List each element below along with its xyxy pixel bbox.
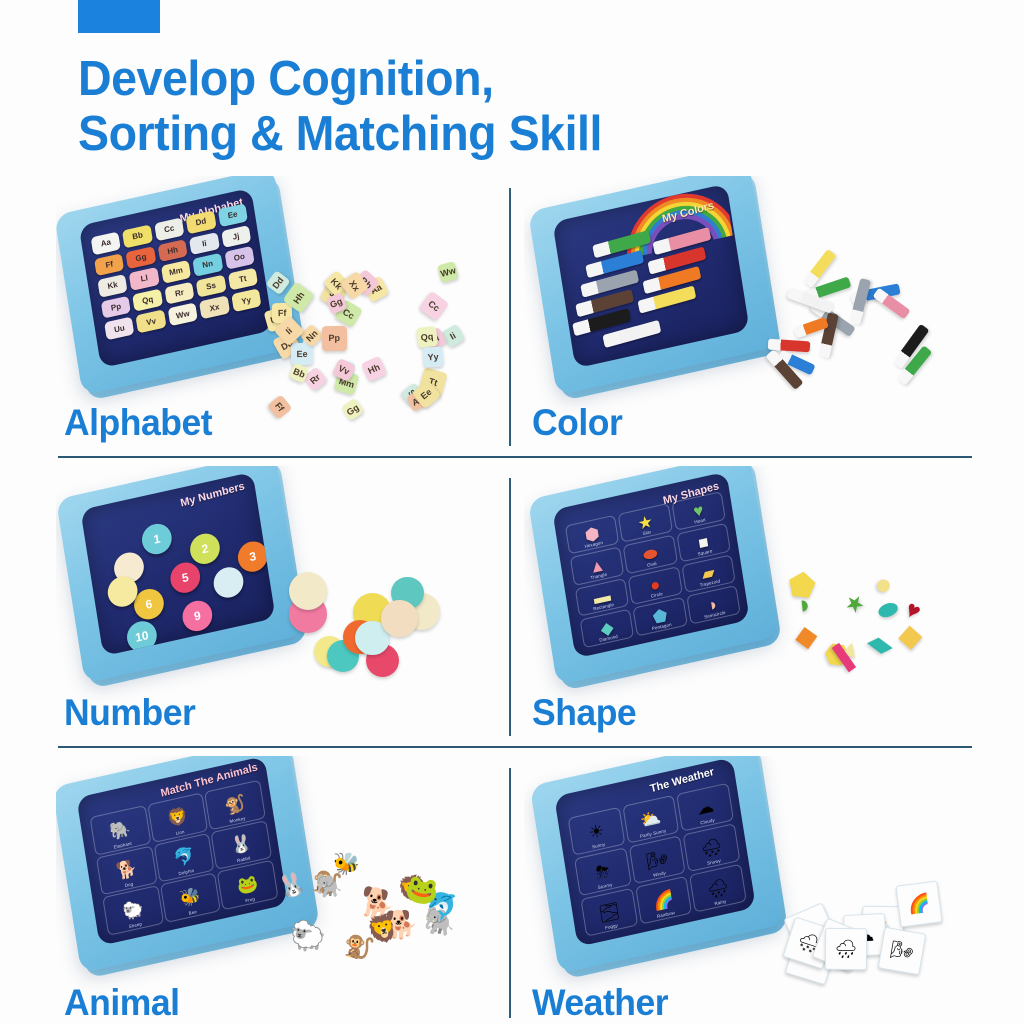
feature-cell-alphabet: My Alphabet AaBbCcDdEeFfGgHhIiJjKkLlMmNn… [56,176,510,446]
feature-cell-shape: My Shapes ⬢Hexagon★Star♥Heart▲Triangle⬬O… [524,466,978,736]
weather-card: 🌧 [825,928,867,970]
book-color: My Colors [540,186,766,372]
animal-icon-elephant: 🐘 [109,820,132,841]
feature-cell-color: My Colors Color [524,176,978,446]
alphabet-tile: Kk [97,274,128,298]
scattered-crayon-pieces [752,260,942,400]
feature-cell-number: My Numbers 12356910 Number [56,466,510,736]
animal-icon-monkey: 🐒 [223,794,246,815]
page-title: Develop Cognition, Sorting & Matching Sk… [78,52,914,162]
animal-piece: 🐑 [289,921,326,952]
book-alphabet: My Alphabet AaBbCcDdEeFfGgHhIiJjKkLlMmNn… [66,190,290,372]
blue-accent-square [78,0,160,33]
scattered-counting-discs [284,566,464,700]
animal-icon-frog: 🐸 [236,874,259,895]
alphabet-tile: Nn [192,253,223,277]
number-circle: 1 [140,521,174,557]
weather-icon-windy: 🌬 [645,849,669,870]
weather-icon-foggy: 🌫 [597,902,621,923]
alphabet-tile: Uu [104,317,135,341]
weather-icon-rainbow: 🌈 [652,889,675,910]
alphabet-tile: Jj [221,225,252,249]
cell-label-color: Color [532,402,622,444]
cell-label-shape: Shape [532,692,636,734]
weather-cell-foggy: 🌫Foggy [580,888,637,937]
cell-label-animal: Animal [64,982,180,1024]
alphabet-tile: Mm [161,260,192,284]
alphabet-tile: Hh [157,239,188,263]
alphabet-tile: Oo [224,246,255,270]
book-weather: The Weather ☀Sunny⛅Partly Sunny☁Cloudy⛈S… [542,760,772,950]
shape-piece: ● [867,569,900,601]
cell-label-number: Number [64,692,195,734]
alphabet-tile: Ff [94,253,125,277]
alphabet-tile: Yy [231,289,262,313]
scattered-animal-pieces: 🐘🦁🐒🐕🐬🐰🐑🐝🐸🐘🦁🐒🐕 [278,852,468,984]
animal-icon-dog: 🐕 [115,860,138,881]
animal-piece: 🐰 [275,871,309,901]
shape-grid: ⬢Hexagon★Star♥Heart▲Triangle⬬Oval■Square… [565,491,741,648]
letter-piece: Gg [341,397,365,421]
cell-label-alphabet: Alphabet [64,402,212,444]
alphabet-tile: Ll [129,267,160,291]
alphabet-tile-grid: AaBbCcDdEeFfGgHhIiJjKkLlMmNnOoPpQqRrSsTt… [91,203,262,340]
animal-piece: 🐒 [340,933,376,965]
weather-grid: ☀Sunny⛅Partly Sunny☁Cloudy⛈Stormy🌬Windy🌨… [568,783,747,937]
alphabet-tile: Gg [126,246,157,270]
number-circle: 2 [188,531,222,567]
feature-cell-animal: Match The Animals 🐘Elephant🦁Lion🐒Monkey🐕… [56,756,510,1026]
alphabet-tile: Qq [132,288,163,312]
animal-icon-bee: 🐝 [179,887,202,908]
letter-piece: Cc [418,291,449,322]
weather-icon-sunny: ☀ [588,821,606,841]
weather-icon-stormy: ⛈ [595,862,611,882]
number-circle: 5 [168,560,202,596]
alphabet-tile: Rr [164,281,195,305]
weather-icon-cloudy: ☁ [696,797,715,817]
feature-cell-weather: The Weather ☀Sunny⛅Partly Sunny☁Cloudy⛈S… [524,756,978,1026]
shape-piece: ★ [840,589,870,619]
shape-piece: ◆ [897,620,923,653]
letter-piece: Ff [268,395,293,420]
scattered-letter-tiles: AaBbCcDdEeFfGgHhIiJjKkLlMmNnOoPpQqRrSsTt… [262,262,472,422]
book-shape: My Shapes ⬢Hexagon★Star♥Heart▲Triangle⬬O… [540,474,766,662]
weather-icon-rainy: 🌧 [706,877,730,898]
product-feature-page: Develop Cognition, Sorting & Matching Sk… [0,0,1024,1024]
animal-piece: 🐸 [403,873,441,906]
letter-piece: Pp [322,325,347,350]
animal-piece: 🐘 [315,875,344,899]
letter-piece: Ww [437,261,460,284]
animal-icon-rabbit: 🐰 [230,834,253,855]
letter-piece: Yy [423,347,444,368]
letter-piece: Hh [361,356,387,382]
alphabet-tile: Bb [122,224,153,248]
animal-icon-lion: 🦁 [166,807,189,828]
letter-piece: Qq [416,326,438,348]
scattered-weather-cards: ☀⛅☁⛈🌬🌨🌫🌈🌧 [774,852,954,986]
book-number: My Numbers 12356910 [68,474,292,660]
alphabet-tile: Aa [91,231,122,255]
shape-piece: ■ [789,618,824,656]
alphabet-tile: Tt [228,267,259,291]
alphabet-tile: Vv [136,310,167,334]
animal-icon-sheep: 🐑 [121,900,144,921]
animal-icon-dolphin: 🐬 [172,847,195,868]
animal-piece: 🐝 [333,853,361,876]
number-circle [211,564,245,600]
weather-card: 🌈 [896,881,943,928]
cell-label-weather: Weather [532,982,668,1024]
shape-piece: ◗ [795,592,813,619]
animal-grid: 🐘Elephant🦁Lion🐒Monkey🐕Dog🐬Dolphin🐰Rabbit… [90,780,279,936]
alphabet-tile: Cc [154,217,185,241]
alphabet-tile: Ww [168,303,199,327]
alphabet-tile: Ii [189,232,220,256]
alphabet-tile: Xx [199,296,230,320]
book-animal: Match The Animals 🐘Elephant🦁Lion🐒Monkey🐕… [64,760,304,948]
feature-grid: My Alphabet AaBbCcDdEeFfGgHhIiJjKkLlMmNn… [0,176,1024,1024]
weather-cell-rainbow: 🌈Rainbow [635,876,692,925]
number-circle: 9 [180,598,214,634]
weather-icon-partly-sunny: ⛅ [639,809,662,830]
alphabet-tile: Pp [101,295,132,319]
weather-cell-rainy: 🌧Rainy [689,864,746,913]
weather-icon-snowy: 🌨 [700,837,724,858]
number-circle-grid: 12356910 [92,495,267,646]
animal-piece: 🐕 [384,911,418,939]
alphabet-tile: Ss [196,274,227,298]
letter-piece: Dd [265,270,290,295]
scattered-shape-pieces: ⬢★♥▲⬬■▬●▰◆⬟◗ [768,558,948,688]
counting-disc [381,600,418,637]
weather-card: 🌬 [878,927,927,976]
